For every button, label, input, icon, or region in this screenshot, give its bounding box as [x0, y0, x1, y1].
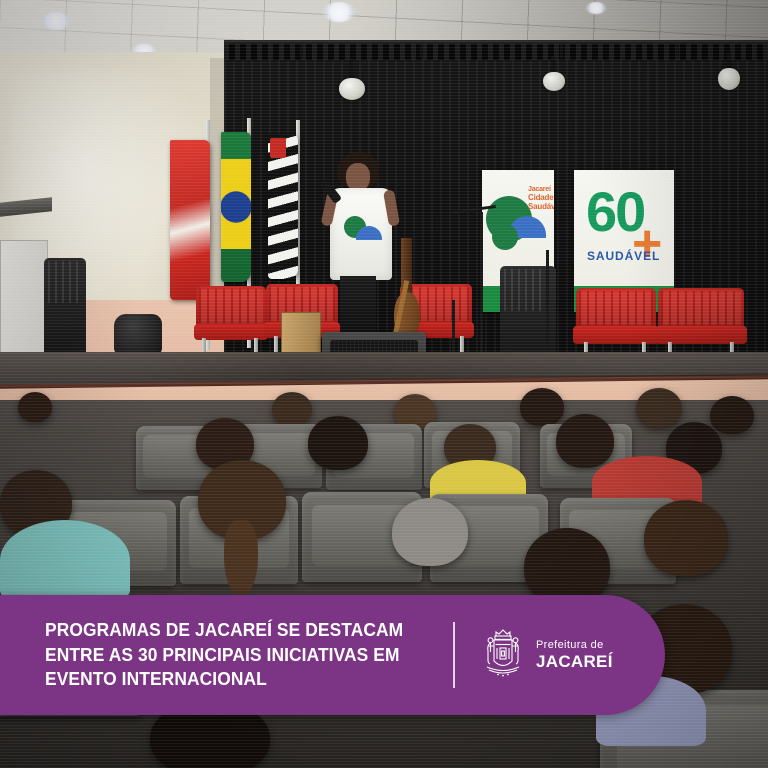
headline-line-2: ENTRE AS 30 PRINCIPAIS INICIATIVAS EM: [45, 643, 426, 668]
rollup1-line3: Saudável: [528, 203, 554, 211]
curtain-header: [224, 44, 768, 60]
stage-spotlight: [543, 72, 565, 91]
stage-spotlight: [339, 78, 365, 100]
audience-head: [392, 498, 468, 566]
news-caption-banner: PROGRAMAS DE JACAREÍ SE DESTACAM ENTRE A…: [0, 595, 665, 715]
microphone-stand: [480, 212, 483, 362]
headline-line-1: PROGRAMAS DE JACAREÍ SE DESTACAM: [45, 618, 426, 643]
red-stage-chair: [658, 288, 744, 362]
speaker-face: [346, 163, 370, 191]
audience-head: [520, 388, 564, 426]
curtain-hook: [420, 44, 423, 58]
red-stage-chair: [196, 286, 266, 356]
stage-spotlight: [718, 68, 740, 90]
ceiling-downlight: [322, 2, 356, 22]
audience-ponytail: [224, 520, 258, 596]
screenshot-root: Jacareí Cidade Saudável 60 + SAUDÁVEL: [0, 0, 768, 768]
prefeitura-logo: Prefeitura de JACAREÍ: [479, 627, 613, 683]
brand-line-2: JACAREÍ: [536, 652, 613, 671]
rollup2-word: SAUDÁVEL: [587, 249, 660, 263]
audience-head: [308, 416, 368, 470]
ceiling-downlight: [40, 12, 72, 30]
banner-divider: [453, 622, 455, 688]
headline: PROGRAMAS DE JACAREÍ SE DESTACAM ENTRE A…: [45, 618, 426, 692]
black-bag: [114, 314, 162, 356]
jacarei-municipal-flag: [170, 140, 210, 300]
audience-shoulders: [0, 520, 130, 600]
audience-head: [272, 392, 312, 426]
audience-head: [556, 414, 614, 468]
audience-head: [636, 388, 682, 428]
coat-of-arms-icon: [479, 627, 527, 683]
audience-head: [710, 396, 754, 434]
spotlight-arm: [349, 58, 353, 80]
curtain-hook: [560, 44, 563, 58]
brazil-flag: [221, 132, 251, 282]
audience-head: [18, 392, 52, 422]
lectern: [0, 240, 48, 354]
brand-text: Prefeitura de JACAREÍ: [536, 639, 613, 670]
curtain-hook: [676, 44, 679, 58]
red-stage-chair: [576, 288, 656, 362]
plastic-chair: [44, 258, 86, 354]
logo-green-dot: [492, 224, 518, 250]
equipment-stand: [546, 250, 549, 360]
ceiling-downlight: [585, 2, 607, 14]
audience-head: [644, 500, 728, 576]
curtain-hook: [300, 44, 303, 58]
headline-line-3: EVENTO INTERNACIONAL: [45, 667, 426, 692]
rollup1-line2: Cidade: [528, 194, 553, 202]
brand-line-1: Prefeitura de: [536, 639, 613, 651]
sao-paulo-state-flag: [268, 134, 298, 279]
